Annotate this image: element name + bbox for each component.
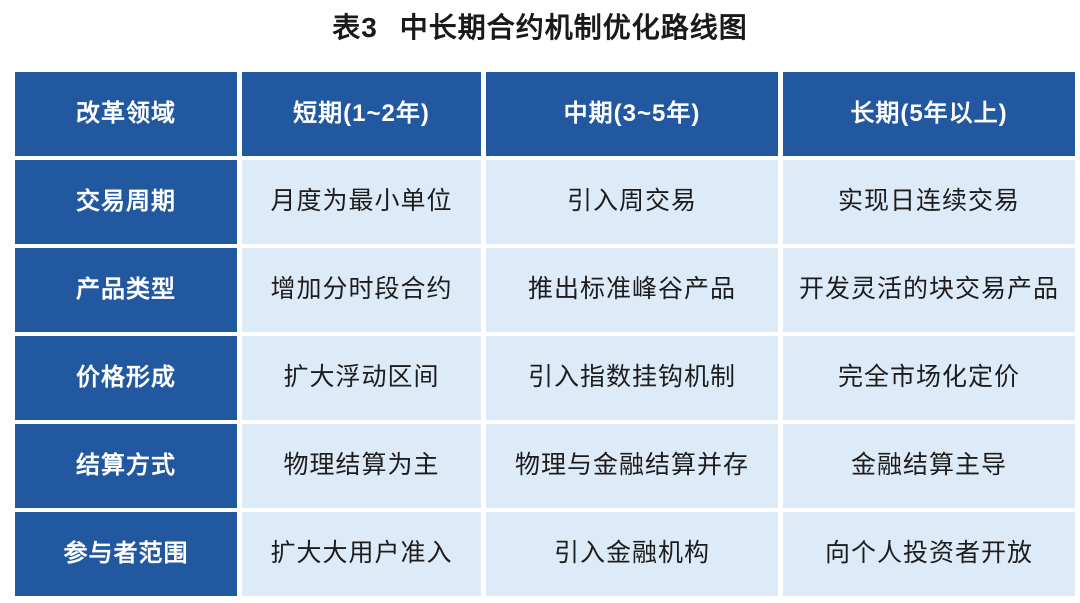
cell-short-term: 增加分时段合约 bbox=[242, 248, 481, 332]
cell-mid-term: 引入周交易 bbox=[486, 160, 778, 244]
cell-long-term-text: 完全市场化定价 bbox=[783, 363, 1075, 393]
row-label-text: 产品类型 bbox=[15, 276, 237, 305]
column-header-long-term: 长期(5年以上) bbox=[783, 72, 1075, 156]
cell-long-term-text: 金融结算主导 bbox=[783, 451, 1075, 481]
cell-short-term-text: 扩大大用户准入 bbox=[242, 539, 481, 569]
cell-short-term: 月度为最小单位 bbox=[242, 160, 481, 244]
row-label-cell: 结算方式 bbox=[15, 424, 237, 508]
row-label-cell: 参与者范围 bbox=[15, 512, 237, 596]
cell-short-term-text: 扩大浮动区间 bbox=[242, 363, 481, 393]
row-label-cell: 交易周期 bbox=[15, 160, 237, 244]
cell-mid-term: 引入指数挂钩机制 bbox=[486, 336, 778, 420]
cell-mid-term-text: 物理与金融结算并存 bbox=[486, 451, 778, 481]
cell-mid-term: 推出标准峰谷产品 bbox=[486, 248, 778, 332]
cell-long-term-text: 实现日连续交易 bbox=[783, 187, 1075, 217]
cell-mid-term: 引入金融机构 bbox=[486, 512, 778, 596]
row-label-cell: 产品类型 bbox=[15, 248, 237, 332]
table-row: 参与者范围 扩大大用户准入 引入金融机构 向个人投资者开放 bbox=[15, 512, 1075, 596]
cell-short-term: 物理结算为主 bbox=[242, 424, 481, 508]
column-header-mid-term-label: 中期(3~5年) bbox=[486, 100, 778, 129]
column-header-long-term-label: 长期(5年以上) bbox=[783, 100, 1075, 129]
page-title: 表3中长期合约机制优化路线图 bbox=[0, 8, 1080, 48]
cell-short-term: 扩大浮动区间 bbox=[242, 336, 481, 420]
cell-long-term: 开发灵活的块交易产品 bbox=[783, 248, 1075, 332]
table-number: 表3 bbox=[332, 12, 378, 43]
column-header-field-label: 改革领域 bbox=[15, 100, 237, 129]
column-header-short-term-label: 短期(1~2年) bbox=[242, 100, 481, 129]
column-header-mid-term: 中期(3~5年) bbox=[486, 72, 778, 156]
cell-mid-term-text: 推出标准峰谷产品 bbox=[486, 275, 778, 305]
table-row: 价格形成 扩大浮动区间 引入指数挂钩机制 完全市场化定价 bbox=[15, 336, 1075, 420]
cell-short-term-text: 月度为最小单位 bbox=[242, 187, 481, 217]
table-figure-page: 表3中长期合约机制优化路线图 改革领域 短期(1~2年) 中期(3~5年) 长期 bbox=[0, 0, 1080, 603]
cell-mid-term-text: 引入金融机构 bbox=[486, 539, 778, 569]
cell-mid-term-text: 引入指数挂钩机制 bbox=[486, 363, 778, 393]
cell-long-term: 金融结算主导 bbox=[783, 424, 1075, 508]
cell-long-term-text: 向个人投资者开放 bbox=[783, 539, 1075, 569]
cell-mid-term-text: 引入周交易 bbox=[486, 187, 778, 217]
table-header-row: 改革领域 短期(1~2年) 中期(3~5年) 长期(5年以上) bbox=[15, 72, 1075, 156]
table-title-text: 中长期合约机制优化路线图 bbox=[400, 12, 748, 43]
cell-short-term: 扩大大用户准入 bbox=[242, 512, 481, 596]
table-row: 交易周期 月度为最小单位 引入周交易 实现日连续交易 bbox=[15, 160, 1075, 244]
table-row: 结算方式 物理结算为主 物理与金融结算并存 金融结算主导 bbox=[15, 424, 1075, 508]
cell-mid-term: 物理与金融结算并存 bbox=[486, 424, 778, 508]
row-label-text: 交易周期 bbox=[15, 188, 237, 217]
row-label-text: 参与者范围 bbox=[15, 540, 237, 569]
table-row: 产品类型 增加分时段合约 推出标准峰谷产品 开发灵活的块交易产品 bbox=[15, 248, 1075, 332]
cell-long-term-text: 开发灵活的块交易产品 bbox=[783, 275, 1075, 305]
cell-long-term: 完全市场化定价 bbox=[783, 336, 1075, 420]
cell-short-term-text: 物理结算为主 bbox=[242, 451, 481, 481]
roadmap-table: 改革领域 短期(1~2年) 中期(3~5年) 长期(5年以上) 交易周期 bbox=[10, 68, 1080, 600]
row-label-text: 价格形成 bbox=[15, 364, 237, 393]
column-header-field: 改革领域 bbox=[15, 72, 237, 156]
cell-short-term-text: 增加分时段合约 bbox=[242, 275, 481, 305]
row-label-text: 结算方式 bbox=[15, 452, 237, 481]
cell-long-term: 实现日连续交易 bbox=[783, 160, 1075, 244]
column-header-short-term: 短期(1~2年) bbox=[242, 72, 481, 156]
row-label-cell: 价格形成 bbox=[15, 336, 237, 420]
cell-long-term: 向个人投资者开放 bbox=[783, 512, 1075, 596]
